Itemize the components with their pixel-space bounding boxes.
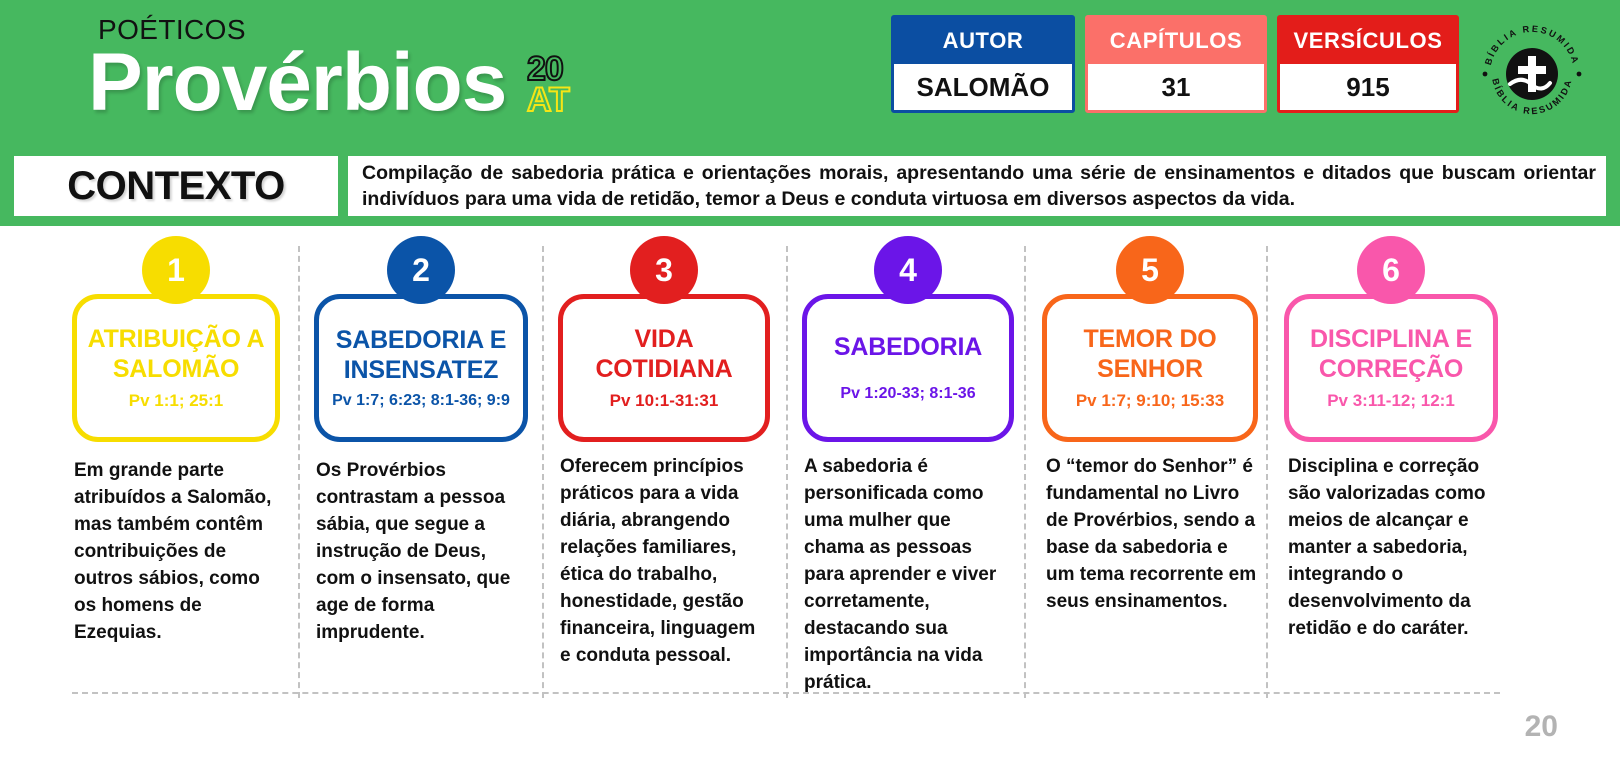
theme-card-6-number: 6	[1357, 236, 1425, 304]
stat-versiculos: VERSÍCULOS 915	[1277, 15, 1459, 113]
testament-abbrev: AT	[527, 85, 570, 116]
theme-card-5-title: TEMOR DO SENHOR	[1055, 325, 1245, 384]
column-divider-3	[786, 246, 788, 698]
themes-row: ATRIBUIÇÃO A SALOMÃO Pv 1:1; 25:1 1 Em g…	[0, 236, 1620, 696]
theme-card-2-number: 2	[387, 236, 455, 304]
stat-autor: AUTOR SALOMÃO	[891, 15, 1075, 113]
theme-card-3-description: Oferecem princípios práticos para a vida…	[560, 454, 770, 670]
book-stats: AUTOR SALOMÃO CAPÍTULOS 31 VERSÍCULOS 91…	[891, 15, 1459, 113]
theme-card-1-title: ATRIBUIÇÃO A SALOMÃO	[85, 325, 267, 384]
stat-versiculos-value: 915	[1280, 64, 1456, 110]
theme-card-5-number: 5	[1116, 236, 1184, 304]
theme-card-2-title: SABEDORIA E INSENSATEZ	[327, 326, 515, 385]
column-divider-4	[1024, 246, 1026, 698]
theme-card-3-reference: Pv 10:1-31:31	[571, 391, 757, 411]
page-header: POÉTICOS Provérbios 20 AT AUTOR SALOMÃO …	[0, 0, 1620, 144]
theme-card-2-description: Os Provérbios contrastam a pessoa sábia,…	[316, 458, 528, 647]
book-number-badge: 20 AT	[527, 54, 570, 117]
theme-card-6-title: DISCIPLINA E CORREÇÃO	[1297, 325, 1485, 384]
stat-capitulos-value: 31	[1088, 64, 1264, 110]
theme-card-4-description: A sabedoria é personificada como uma mul…	[804, 454, 1012, 697]
theme-card-6-reference: Pv 3:11-12; 12:1	[1297, 391, 1485, 411]
theme-card-4[interactable]: SABEDORIA Pv 1:20-33; 8:1-36	[802, 294, 1014, 442]
theme-card-1[interactable]: ATRIBUIÇÃO A SALOMÃO Pv 1:1; 25:1	[72, 294, 280, 442]
column-divider-1	[298, 246, 300, 698]
theme-card-4-reference: Pv 1:20-33; 8:1-36	[815, 385, 1001, 403]
stat-capitulos-label: CAPÍTULOS	[1088, 18, 1264, 64]
stat-autor-label: AUTOR	[894, 18, 1072, 64]
theme-card-4-number: 4	[874, 236, 942, 304]
biblia-resumida-logo-icon: BÍBLIA RESUMIDA BÍBLIA RESUMIDA	[1478, 22, 1586, 122]
theme-card-6[interactable]: DISCIPLINA E CORREÇÃO Pv 3:11-12; 12:1	[1284, 294, 1498, 442]
theme-card-3[interactable]: VIDA COTIDIANA Pv 10:1-31:31	[558, 294, 770, 442]
stat-capitulos: CAPÍTULOS 31	[1085, 15, 1267, 113]
stat-autor-value: SALOMÃO	[894, 64, 1072, 110]
context-label-text: CONTEXTO	[67, 164, 285, 209]
context-text-box: Compilação de sabedoria prática e orient…	[348, 156, 1606, 216]
theme-card-2-reference: Pv 1:7; 6:23; 8:1-36; 9:9	[327, 392, 515, 410]
theme-card-3-number: 3	[630, 236, 698, 304]
theme-card-6-description: Disciplina e correção são valorizadas co…	[1288, 454, 1500, 643]
column-divider-2	[542, 246, 544, 698]
context-text: Compilação de sabedoria prática e orient…	[348, 160, 1606, 213]
theme-card-5-description: O “temor do Senhor” é fundamental no Liv…	[1046, 454, 1258, 616]
context-label: CONTEXTO	[14, 156, 338, 216]
page-number: 20	[1525, 710, 1558, 744]
stat-versiculos-label: VERSÍCULOS	[1280, 18, 1456, 64]
theme-card-2[interactable]: SABEDORIA E INSENSATEZ Pv 1:7; 6:23; 8:1…	[314, 294, 528, 442]
theme-card-1-number: 1	[142, 236, 210, 304]
theme-card-3-title: VIDA COTIDIANA	[571, 325, 757, 384]
footer-divider	[72, 692, 1500, 694]
theme-card-1-description: Em grande parte atribuídos a Salomão, ma…	[74, 458, 280, 647]
theme-card-4-title: SABEDORIA	[815, 333, 1001, 363]
page-title: Provérbios	[88, 36, 506, 130]
theme-card-1-reference: Pv 1:1; 25:1	[85, 391, 267, 411]
theme-card-5[interactable]: TEMOR DO SENHOR Pv 1:7; 9:10; 15:33	[1042, 294, 1258, 442]
theme-card-5-reference: Pv 1:7; 9:10; 15:33	[1055, 391, 1245, 411]
column-divider-5	[1266, 246, 1268, 698]
